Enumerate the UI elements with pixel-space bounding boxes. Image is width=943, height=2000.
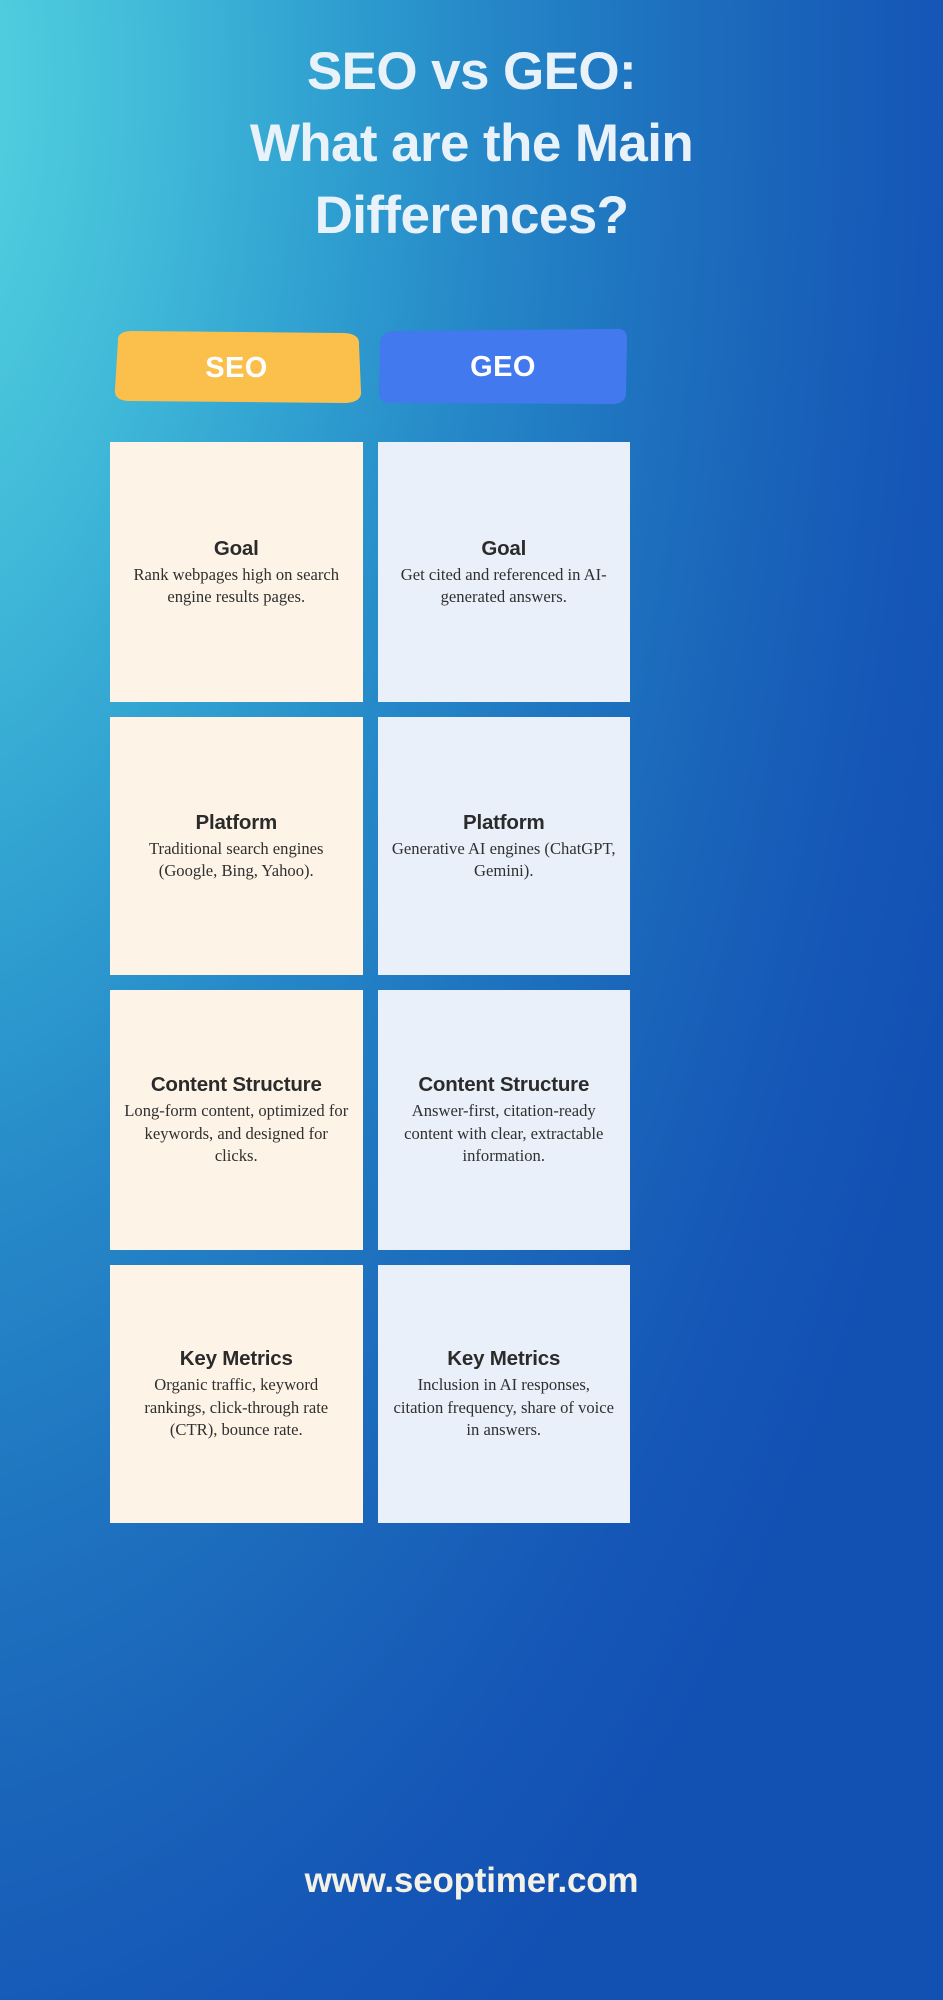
card-heading: Platform — [463, 810, 545, 836]
card-body: Rank webpages high on search engine resu… — [124, 564, 349, 609]
card-heading: Content Structure — [151, 1072, 322, 1098]
card-heading: Platform — [195, 810, 277, 836]
infographic-poster: SEO vs GEO: What are the Main Difference… — [0, 0, 943, 2000]
page-title: SEO vs GEO: What are the Main Difference… — [0, 36, 943, 252]
comparison-grid: Goal Rank webpages high on search engine… — [110, 442, 630, 1523]
table-row: Platform Traditional search engines (Goo… — [110, 717, 630, 975]
card-geo-content-structure[interactable]: Content Structure Answer-first, citation… — [378, 990, 631, 1250]
footer-website-url[interactable]: www.seoptimer.com — [305, 1861, 639, 1900]
card-heading: Goal — [214, 536, 259, 562]
card-heading: Key Metrics — [180, 1346, 293, 1372]
tab-seo[interactable]: SEO — [110, 329, 363, 405]
card-body: Inclusion in AI responses, citation freq… — [391, 1374, 616, 1442]
card-body: Long-form content, optimized for keyword… — [124, 1100, 349, 1168]
card-body: Get cited and referenced in AI-generated… — [391, 564, 616, 609]
card-body: Traditional search engines (Google, Bing… — [124, 838, 349, 883]
card-body: Answer-first, citation-ready content wit… — [391, 1100, 616, 1168]
tab-geo[interactable]: GEO — [378, 329, 628, 405]
tab-geo-label: GEO — [470, 351, 536, 384]
title-line-3: Differences? — [0, 180, 943, 252]
card-body: Generative AI engines (ChatGPT, Gemini). — [391, 838, 616, 883]
card-heading: Content Structure — [418, 1072, 589, 1098]
comparison-tab-row: SEO GEO — [110, 329, 834, 409]
card-geo-platform[interactable]: Platform Generative AI engines (ChatGPT,… — [378, 717, 631, 975]
card-seo-key-metrics[interactable]: Key Metrics Organic traffic, keyword ran… — [110, 1265, 363, 1523]
title-line-2: What are the Main — [0, 108, 943, 180]
card-geo-goal[interactable]: Goal Get cited and referenced in AI-gene… — [378, 442, 631, 702]
card-heading: Key Metrics — [447, 1346, 560, 1372]
card-seo-platform[interactable]: Platform Traditional search engines (Goo… — [110, 717, 363, 975]
table-row: Goal Rank webpages high on search engine… — [110, 442, 630, 702]
card-geo-key-metrics[interactable]: Key Metrics Inclusion in AI responses, c… — [378, 1265, 631, 1523]
tab-seo-label: SEO — [205, 352, 267, 385]
card-heading: Goal — [481, 536, 526, 562]
table-row: Key Metrics Organic traffic, keyword ran… — [110, 1265, 630, 1523]
card-body: Organic traffic, keyword rankings, click… — [124, 1374, 349, 1442]
title-line-1: SEO vs GEO: — [0, 36, 943, 108]
table-row: Content Structure Long-form content, opt… — [110, 990, 630, 1250]
footer: www.seoptimer.com — [0, 1861, 943, 1901]
card-seo-content-structure[interactable]: Content Structure Long-form content, opt… — [110, 990, 363, 1250]
card-seo-goal[interactable]: Goal Rank webpages high on search engine… — [110, 442, 363, 702]
